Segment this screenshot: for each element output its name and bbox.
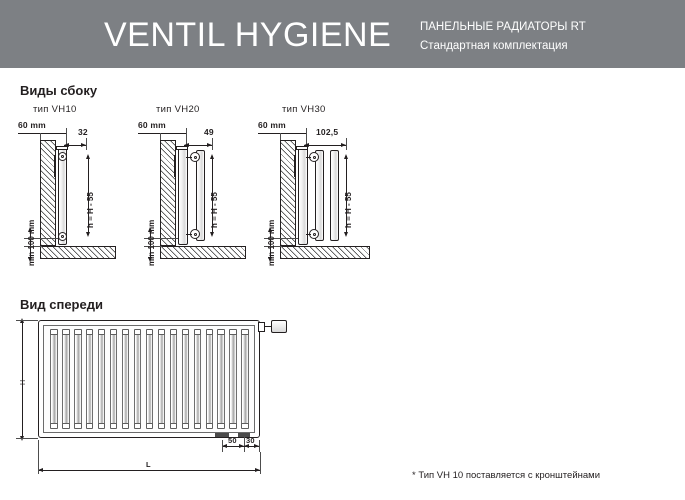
height-formula-vh30: h = H - 55 [344,192,353,228]
valve-top-vh10 [58,152,67,161]
radiator-fin-cap-top [217,329,224,335]
radiator-fin [241,333,248,425]
dim-depth-vh20: 49 [204,127,214,137]
product-title: VENTIL HYGIENE [104,15,391,55]
side-views-title: Виды сбоку [20,83,97,98]
radiator-fin-cap-bottom [110,423,117,429]
radiator-panel-3-vh30 [330,150,339,241]
radiator-fin-cap-top [50,329,57,335]
dim-depth-vh30: 102,5 [316,127,338,137]
radiator-fin [194,333,201,425]
footnote: * Тип VH 10 поставляется с кронштейнами [412,470,600,481]
radiator-fin-cap-top [62,329,69,335]
radiator-fin-cap-top [158,329,165,335]
type-label-vh30: тип VH30 [282,104,326,115]
radiator-fin-cap-bottom [194,423,201,429]
radiator-panel-2-vh30 [315,150,324,241]
radiator-fin-cap-top [182,329,189,335]
radiator-fin [62,333,69,425]
radiator-fin [170,333,177,425]
header-subtitle-line2: Стандартная комплектация [420,37,568,55]
dim-60mm-vh10: 60 mm [18,120,46,130]
radiator-fin-cap-bottom [206,423,213,429]
radiator-fin-cap-top [241,329,248,335]
dim-60mm-vh20: 60 mm [138,120,166,130]
radiator-fin-cap-top [122,329,129,335]
radiator-fin-cap-top [206,329,213,335]
front-view-title: Вид спереди [20,297,103,312]
floor-distance-vh20: min 100 mm [147,220,156,266]
dim-30-label: 30 [246,436,255,445]
radiator-fin-cap-bottom [74,423,81,429]
radiator-fin-cap-top [194,329,201,335]
radiator-fin [229,333,236,425]
radiator-fin [98,333,105,425]
radiator-fin-cap-bottom [50,423,57,429]
radiator-panel-1-vh30 [298,146,308,245]
radiator-fin [182,333,189,425]
valve-bottom-vh10 [58,232,67,241]
radiator-fin-cap-bottom [217,423,224,429]
radiator-fin [206,333,213,425]
floor-distance-vh30: min 100 mm [267,220,276,266]
radiator-fin [122,333,129,425]
radiator-fin-cap-top [229,329,236,335]
radiator-fin-cap-top [110,329,117,335]
radiator-fin-cap-bottom [122,423,129,429]
floor-distance-vh10: min 100 mm [27,220,36,266]
radiator-fin-cap-bottom [229,423,236,429]
foot-right-1 [215,433,229,437]
radiator-fin-cap-top [86,329,93,335]
dim-60mm-vh30: 60 mm [258,120,286,130]
type-label-vh20: тип VH20 [156,104,200,115]
datasheet-page: VENTIL HYGIENE ПАНЕЛЬНЫЕ РАДИАТОРЫ RT Ст… [0,0,685,500]
radiator-panel-2-vh20 [196,150,205,241]
radiator-fin [86,333,93,425]
radiator-fin-cap-bottom [158,423,165,429]
dim-L-label: L [146,460,151,469]
header-subtitle-line1: ПАНЕЛЬНЫЕ РАДИАТОРЫ RT [420,18,586,36]
radiator-fin-cap-top [146,329,153,335]
radiator-fin [74,333,81,425]
height-formula-vh10: h = H - 55 [86,192,95,228]
dim-H-label: H [20,380,27,385]
radiator-fin-cap-bottom [86,423,93,429]
floor-hatch-vh30 [280,246,370,259]
radiator-fin-cap-top [134,329,141,335]
radiator-fin [50,333,57,425]
valve-connector-box [258,322,265,332]
floor-hatch-vh10 [40,246,116,259]
valve-knob [271,320,287,333]
radiator-fin-cap-bottom [146,423,153,429]
radiator-fin-cap-bottom [62,423,69,429]
radiator-fin-cap-bottom [134,423,141,429]
radiator-fin [134,333,141,425]
radiator-fin [146,333,153,425]
dim-50-label: 50 [228,436,237,445]
radiator-fin [158,333,165,425]
radiator-fin-cap-bottom [241,423,248,429]
floor-hatch-vh20 [160,246,246,259]
radiator-fin [217,333,224,425]
type-label-vh10: тип VH10 [33,104,77,115]
page-header: VENTIL HYGIENE ПАНЕЛЬНЫЕ РАДИАТОРЫ RT Ст… [0,0,685,68]
radiator-fin-cap-top [74,329,81,335]
radiator-fin-cap-bottom [182,423,189,429]
radiator-panel-1-vh20 [178,146,188,245]
dim-depth-vh10: 32 [78,127,88,137]
radiator-fin-cap-top [170,329,177,335]
radiator-fin-cap-bottom [170,423,177,429]
radiator-fin [110,333,117,425]
height-formula-vh20: h = H - 55 [210,192,219,228]
radiator-fin-cap-bottom [98,423,105,429]
radiator-fin-cap-top [98,329,105,335]
